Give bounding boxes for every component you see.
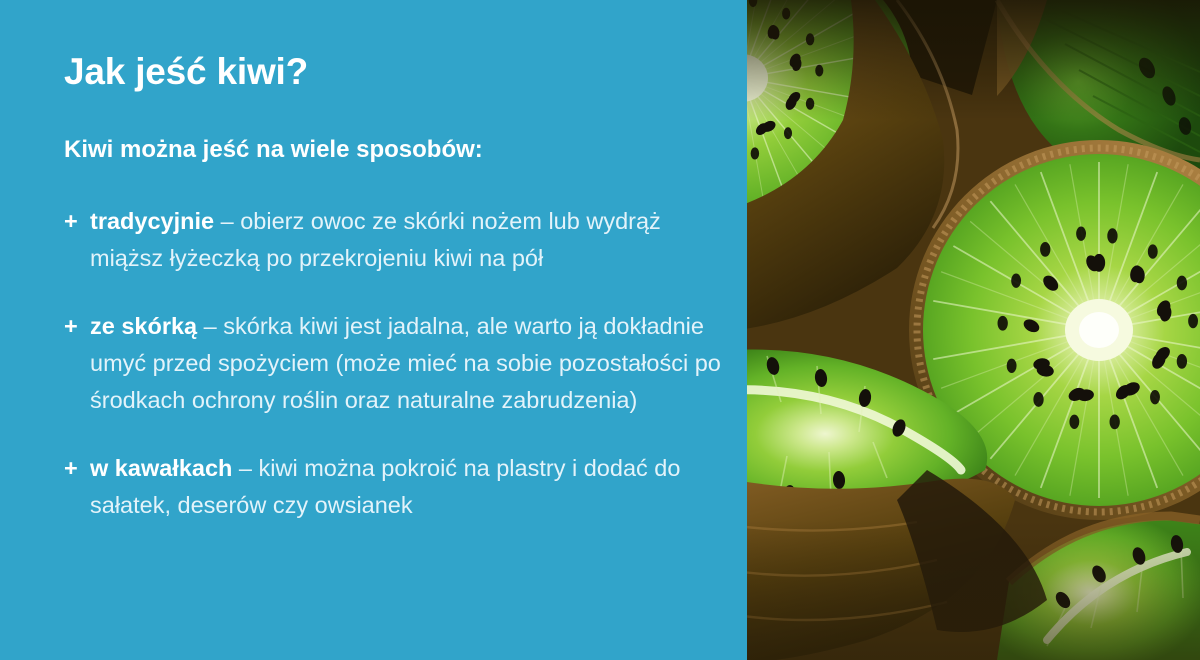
bullet-list: +tradycyjnie – obierz owoc ze skórki noż… xyxy=(64,203,724,524)
plus-icon: + xyxy=(64,308,78,345)
page-subtitle: Kiwi można jeść na wiele sposobów: xyxy=(64,136,483,165)
list-item: +tradycyjnie – obierz owoc ze skórki noż… xyxy=(64,203,724,277)
kiwi-photo xyxy=(747,0,1200,660)
slide: Jak jeść kiwi? Kiwi można jeść na wiele … xyxy=(0,0,1200,660)
text-panel: Jak jeść kiwi? Kiwi można jeść na wiele … xyxy=(0,0,747,660)
list-item-dash: – xyxy=(232,455,258,481)
kiwi-photo-illustration xyxy=(747,0,1200,660)
plus-icon: + xyxy=(64,203,78,240)
list-item-term: ze skórką xyxy=(90,313,197,339)
list-item: +w kawałkach – kiwi można pokroić na pla… xyxy=(64,450,724,524)
list-item-dash: – xyxy=(214,208,240,234)
list-item-term: tradycyjnie xyxy=(90,208,214,234)
list-item: +ze skórką – skórka kiwi jest jadalna, a… xyxy=(64,308,724,419)
list-item-dash: – xyxy=(197,313,223,339)
plus-icon: + xyxy=(64,450,78,487)
page-title: Jak jeść kiwi? xyxy=(64,51,308,94)
list-item-term: w kawałkach xyxy=(90,455,232,481)
